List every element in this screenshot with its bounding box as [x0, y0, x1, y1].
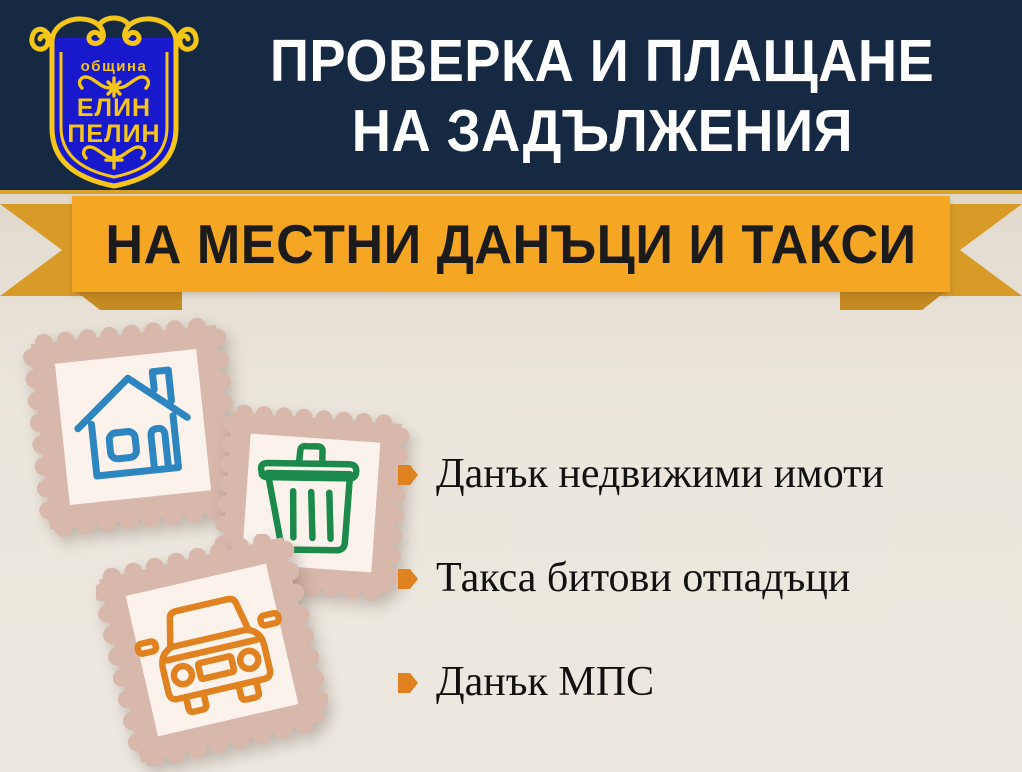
arrow-bullet-icon [398, 463, 418, 487]
municipality-logo: община ЕЛИН ПЕЛИН [26, 8, 202, 190]
ribbon-label: НА МЕСТНИ ДАНЪЦИ И ТАКСИ [94, 196, 928, 292]
list-item-label: Данък недвижими имоти [436, 452, 884, 496]
arrow-bullet-icon [398, 671, 418, 695]
poster-canvas: община ЕЛИН ПЕЛИН ПРОВЕРКА И ПЛАЩАНЕ НА … [0, 0, 1022, 772]
logo-top-text: община [81, 58, 148, 75]
list-item-label: Такса битови отпадъци [436, 556, 850, 600]
logo-name-line-2: ПЕЛИН [67, 120, 160, 148]
list-item[interactable]: Данък недвижими имоти [398, 422, 1012, 526]
list-item[interactable]: Данък МПС [398, 630, 1012, 734]
service-list: Данък недвижими имоти Такса битови отпад… [398, 422, 1012, 734]
list-item-label: Данък МПС [436, 660, 654, 704]
title-line-1: ПРОВЕРКА И ПЛАЩАНЕ [270, 27, 934, 97]
arrow-bullet-icon [398, 567, 418, 591]
list-item[interactable]: Такса битови отпадъци [398, 526, 1012, 630]
subtitle-ribbon: НА МЕСТНИ ДАНЪЦИ И ТАКСИ [0, 196, 1022, 312]
logo-name-line-1: ЕЛИН [77, 94, 151, 122]
title-line-2: НА ЗАДЪЛЖЕНИЯ [351, 97, 852, 167]
poster-title: ПРОВЕРКА И ПЛАЩАНЕ НА ЗАДЪЛЖЕНИЯ [196, 16, 1008, 178]
header-gold-rule [0, 190, 1022, 194]
stamp-card-car [96, 534, 328, 766]
